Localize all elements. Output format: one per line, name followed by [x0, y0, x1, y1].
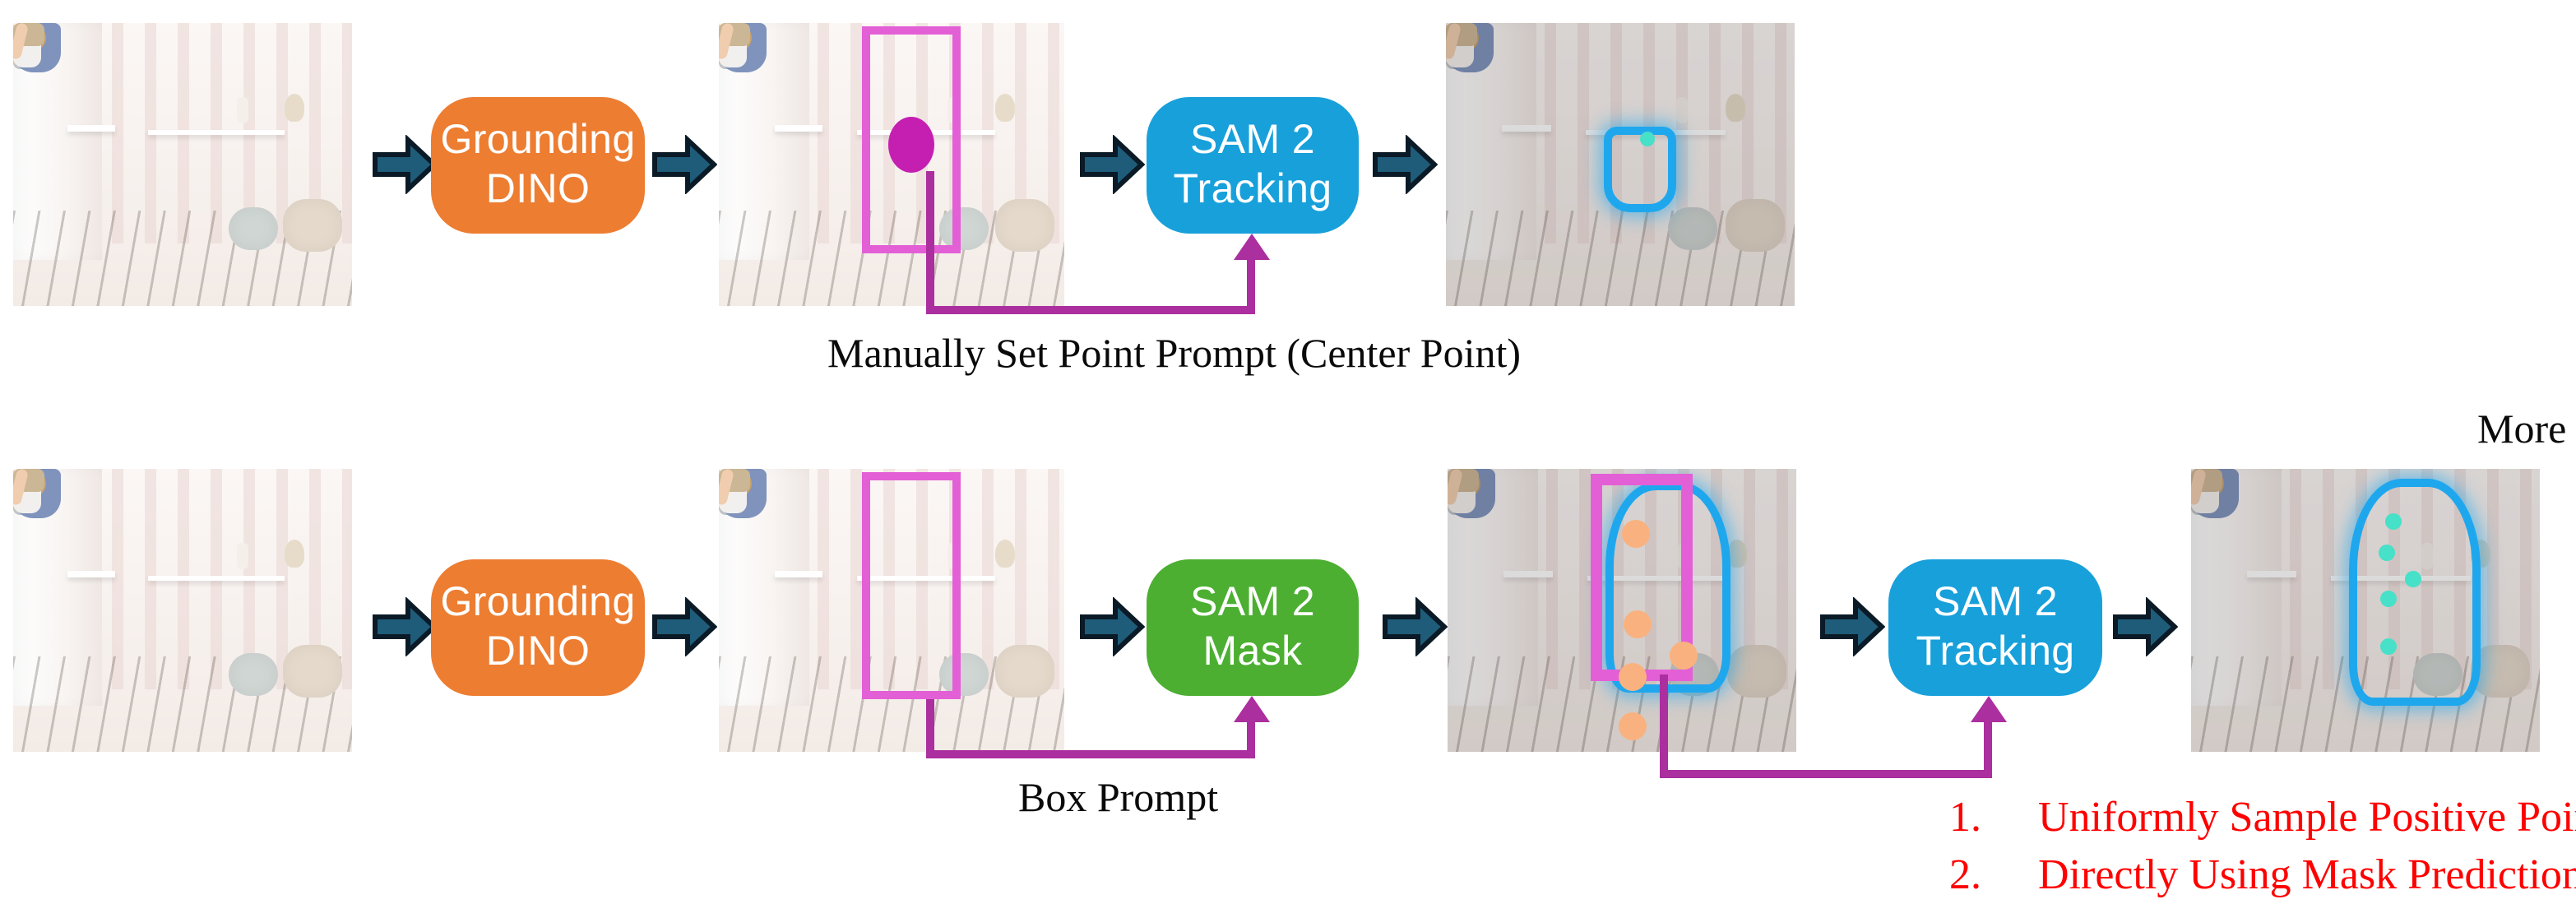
row2-arrow-1	[372, 597, 438, 656]
row2-result-point-2	[2379, 545, 2395, 561]
row1-sam2-tracking-box[interactable]: SAM 2 Tracking	[1147, 97, 1359, 234]
row2-result-point-1	[2385, 513, 2402, 530]
row2-grounding-dino-line2: DINO	[486, 628, 591, 676]
row1-arrow-3	[1079, 135, 1145, 194]
row2-connector-b-horizontal	[1660, 770, 1992, 778]
row1-grounding-dino-box[interactable]: Grounding DINO	[431, 97, 645, 234]
row2-result-caption: More Stable Segment Results	[2477, 408, 2576, 454]
row2-sam2-mask-line1: SAM 2	[1190, 579, 1315, 628]
row2-sam2-tracking-box[interactable]: SAM 2 Tracking	[1888, 559, 2102, 696]
row2-connector-a-vertical-left	[926, 699, 934, 757]
row2-grounding-dino-line1: Grounding	[440, 579, 635, 628]
row2-sam2-mask-box[interactable]: SAM 2 Mask	[1147, 559, 1359, 696]
row2-arrow-6	[2112, 597, 2178, 656]
row2-sam2-tracking-line2: Tracking	[1916, 628, 2074, 676]
row1-arrow-2	[651, 135, 717, 194]
row1-grounding-dino-line1: Grounding	[440, 117, 635, 165]
row2-mask-samplepoints-frame	[1448, 469, 1796, 752]
row2-connector-a-arrowhead	[1234, 696, 1270, 722]
row2-result-point-5	[2380, 638, 2397, 655]
row2-step-2-highlight: Directly Using Mask Prediction	[2038, 847, 2576, 904]
row1-tracking-result-frame	[1446, 23, 1795, 306]
row2-sample-point-2	[1624, 610, 1652, 638]
row2-grounding-dino-box[interactable]: Grounding DINO	[431, 559, 645, 696]
row2-connector-a-horizontal	[926, 750, 1255, 758]
row2-sample-point-5	[1619, 712, 1647, 740]
row2-boxprompt-caption: Box Prompt	[1018, 777, 1218, 823]
row2-box-prompt-bbox	[862, 472, 961, 699]
row1-input-frame	[13, 23, 352, 306]
row2-step-1: 1. Uniformly Sample Positive Points from…	[1949, 790, 2576, 847]
row2-arrow-5	[1819, 597, 1885, 656]
row2-step-2-number: 2.	[1949, 847, 2038, 904]
row2-sample-point-1	[1622, 520, 1650, 548]
row1-detection-frame	[719, 23, 1064, 306]
row1-result-point	[1640, 132, 1655, 146]
row2-sample-point-4	[1670, 642, 1698, 670]
row2-connector-b-vertical-right	[1984, 719, 1992, 775]
row2-step-1-highlight: Uniformly Sample Positive Points	[2038, 790, 2576, 847]
row1-grounding-dino-line2: DINO	[486, 165, 591, 214]
row2-steps-list: 1. Uniformly Sample Positive Points from…	[1949, 790, 2576, 904]
row1-connector-vertical-left	[926, 171, 934, 311]
row1-arrow-1	[372, 135, 438, 194]
row1-connector-horizontal	[926, 306, 1255, 314]
row1-center-point	[888, 117, 934, 173]
row1-arrow-4	[1372, 135, 1438, 194]
row1-sam2-tracking-line2: Tracking	[1173, 165, 1332, 214]
row2-input-frame	[13, 469, 352, 752]
row2-connector-b-vertical-left	[1660, 675, 1668, 777]
row2-sam2-tracking-line1: SAM 2	[1933, 579, 2058, 628]
row2-step-2: 2. Directly Using Mask Prediction as Pro…	[1949, 847, 2576, 904]
figure-canvas: Grounding DINO	[0, 0, 2576, 902]
row2-arrow-2	[651, 597, 717, 656]
row2-boxprompt-frame	[719, 469, 1064, 752]
row2-arrow-4	[1382, 597, 1448, 656]
row2-stable-result-frame	[2191, 469, 2540, 752]
row2-sample-point-3	[1619, 663, 1647, 691]
row1-caption: Manually Set Point Prompt (Center Point)	[827, 332, 1521, 378]
row2-step-1-number: 1.	[1949, 790, 2038, 847]
row1-connector-vertical-right	[1247, 257, 1255, 309]
row2-sam2-mask-line2: Mask	[1202, 628, 1302, 676]
row1-connector-arrowhead	[1234, 234, 1270, 260]
row1-sam2-tracking-line1: SAM 2	[1190, 117, 1315, 165]
row2-connector-b-arrowhead	[1971, 696, 2007, 722]
row2-result-mask-outline	[2349, 479, 2481, 706]
row2-connector-a-vertical-right	[1247, 719, 1255, 755]
row2-result-point-3	[2405, 571, 2421, 587]
row2-result-point-4	[2380, 591, 2397, 607]
row2-arrow-3	[1079, 597, 1145, 656]
